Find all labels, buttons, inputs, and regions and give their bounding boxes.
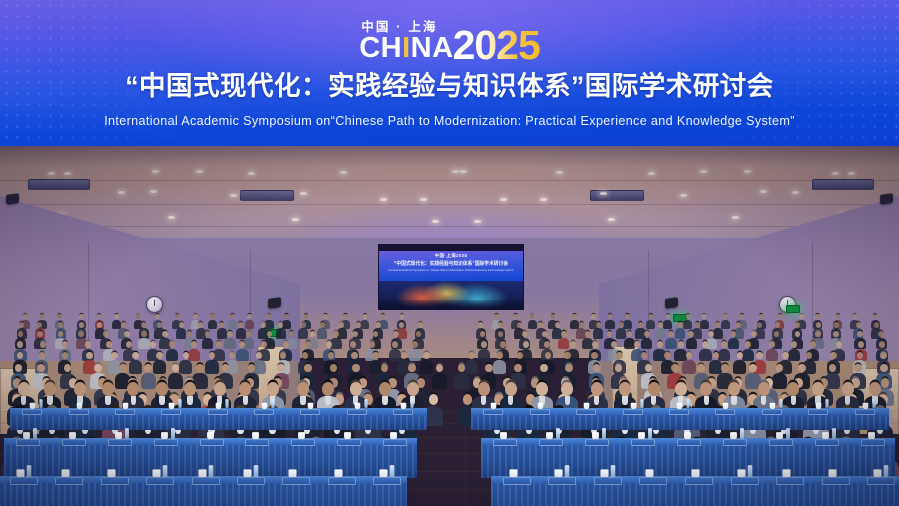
water-bottle [364,399,367,408]
audience-member-head [183,352,190,359]
audience-member-head [799,314,804,319]
audience-member-head [429,394,439,405]
audience-member-head [187,331,193,337]
audience-member-head [702,341,708,348]
audience-member-head [815,314,820,319]
front-row-attendee-shirt [845,396,850,404]
audience-member-head [542,331,548,337]
audience-member [432,364,447,390]
audience-member-head [381,364,389,372]
audience-member-head [593,364,601,372]
audience-member-head [121,322,126,328]
audience-member-head [372,352,379,359]
front-row-attendee-head [591,382,603,396]
front-row-attendee-head [74,382,86,396]
audience-member-head [326,341,332,348]
water-bottle [26,465,31,478]
audience-member-head [579,322,584,328]
audience-member-head [267,314,272,319]
audience-member [655,322,665,340]
front-row-attendee-shirt [47,396,52,404]
front-row-attendee-head [184,382,196,396]
speaker-right-2 [665,297,678,309]
audience-member-head [85,341,91,348]
audience-member-head [485,364,493,372]
event-banner: 中国 · 上海 CHINA 2025 “中国式现代化：实践经验与知识体系”国际学… [0,0,899,146]
name-placard [548,477,576,485]
front-row-attendee-shirt [159,396,164,404]
water-bottle [826,399,829,408]
audience-member-head [751,331,757,337]
name-placard [16,439,40,446]
audience-member-head [15,364,23,372]
name-placard [337,439,361,446]
audience-member-head [664,352,671,359]
audience-member-head [179,322,184,328]
audience-member-head [702,314,707,319]
audience-member-head [423,352,430,359]
exit-sign-right [786,305,800,313]
audience-member-head [343,314,348,319]
audience-member-body [166,349,178,362]
name-placard [483,409,503,415]
name-placard [594,477,622,485]
audience-member-head [136,314,141,319]
audience-member-head [39,352,46,359]
audience-member-head [305,341,311,348]
audience-member-head [782,352,789,359]
audience-member-head [97,322,102,328]
front-row-attendee-shirt [508,396,513,404]
audience-member-body [317,328,327,339]
audience-member-head [688,331,694,337]
audience-member-head [740,314,745,319]
audience-member-head [392,341,398,348]
audience-member-head [62,341,68,348]
front-row-attendee-head [102,382,114,396]
symposium-title-chinese: “中国式现代化：实践经验与知识体系”国际学术研讨会 [0,70,899,102]
name-placard [776,477,804,485]
audience-member-head [150,341,156,348]
audience-member-head [162,331,168,337]
audience-member-head [227,331,233,337]
name-placard [62,439,86,446]
audience-member-head [155,314,160,319]
audience-member-head [880,364,888,372]
audience-member-head [37,322,42,328]
audience-member-head [283,341,289,348]
audience-member-head [774,331,780,337]
audience-member-head [757,322,762,328]
name-placard [154,439,178,446]
name-placard [108,439,132,446]
water-bottle [179,399,182,408]
audience-member-head [141,322,146,328]
name-placard [291,439,315,446]
audience-member-head [756,352,763,359]
audience-member-head [289,331,295,337]
front-row-attendee-head [350,382,362,396]
audience-member-head [196,364,204,372]
logo-year: 2025 [453,26,540,64]
audience-member-head [874,322,879,328]
front-row-attendee-head [407,382,419,396]
water-bottle [779,399,782,408]
audience-member-head [169,341,175,348]
audience-member-head [412,341,418,348]
front-row-attendee-shirt [105,396,110,404]
front-row-attendee-shirt [791,396,796,404]
audience-member-head [697,364,705,372]
audience-member-head [496,352,503,359]
audience-member-head [18,331,24,337]
audience-member-head [373,331,379,337]
name-placard [208,409,228,415]
audience-member-head [23,314,28,319]
table-skirt [471,415,889,430]
front-row-attendee-head [478,382,490,396]
name-placard [715,409,735,415]
water-bottle [686,399,689,408]
audience-member-head [731,331,737,337]
audience-member-head [363,314,368,319]
audience-member-head [458,364,466,372]
air-vent [590,190,644,201]
audience-member-head [513,314,518,319]
audience-member [202,331,213,350]
audience-member-head [86,352,93,359]
audience-member-head [302,352,309,359]
audience-member-head [619,322,624,328]
audience-member-body [432,373,447,389]
audience-member-body [655,328,665,339]
audience-member-head [671,364,679,372]
audience-member-head [514,364,522,372]
audience-member-head [836,314,841,319]
audience-member [317,322,327,340]
audience-member-head [776,364,784,372]
conference-hall-photo: 中国·上海2025 “中国式现代化：实践经验与知识体系”国际学术研讨会 Inte… [0,146,899,506]
audience-member-head [627,331,633,337]
front-row-attendee-head [648,382,660,396]
audience-member-head [498,331,504,337]
symposium-banner-screenshot: 中国 · 上海 CHINA 2025 “中国式现代化：实践经验与知识体系”国际学… [0,0,899,506]
water-bottle [786,428,790,439]
audience-member-head [320,322,325,328]
audience-member-head [830,352,837,359]
name-placard [493,439,517,446]
audience-member [605,314,614,330]
audience-member-head [103,331,109,337]
event-logo: 中国 · 上海 CHINA 2025 [0,12,899,64]
audience-member-head [278,322,283,328]
audience-member-head [686,314,691,319]
name-placard [669,409,689,415]
front-row-attendee-head [561,382,573,396]
audience-member-head [284,314,289,319]
audience-member-head [193,314,198,319]
table-skirt [491,483,899,506]
audience-member-head [356,322,361,328]
audience-member-head [551,314,556,319]
front-row-attendee-shirt [761,396,766,404]
front-row-attendee-head [869,382,881,396]
audience-member [276,322,286,340]
audience-member-head [17,341,23,348]
water-bottle [747,465,752,478]
audience-member [646,314,655,330]
front-row-attendee-head [700,382,712,396]
audience-member-head [834,322,839,328]
audience-member-head [144,364,152,372]
audience-member-head [40,341,46,348]
water-bottle [171,428,175,439]
front-row-attendee-shirt [651,396,656,404]
audience-member-head [713,352,720,359]
audience-member [686,331,697,350]
audience-member-head [666,314,671,319]
audience-member-head [695,322,700,328]
water-bottle [410,399,413,408]
stage-screen-logo: 中国·上海2025 [379,253,523,258]
name-placard [192,477,220,485]
audience-member-head [749,364,757,372]
audience-member-head [585,331,591,337]
audience-member-head [172,364,180,372]
water-bottle [390,465,395,478]
audience-member-head [545,352,552,359]
name-placard [282,477,310,485]
audience-member-head [836,341,842,348]
name-placard [867,477,895,485]
audience-member-head [715,322,720,328]
audience-member-head [721,364,729,372]
front-row-attendee-shirt [243,396,248,404]
audience-member-head [141,331,147,337]
front-row-attendee-head [267,382,279,396]
audience-member-head [205,331,211,337]
audience-member-head [106,341,112,348]
audience-member-head [209,352,216,359]
audience-member-head [156,352,163,359]
front-row-attendee-head [675,382,687,396]
water-bottle [611,465,616,478]
water-bottle [872,399,875,408]
audience-member-head [607,331,613,337]
audience-member-head [277,364,285,372]
name-placard [69,409,89,415]
audience-member-body [605,320,614,329]
water-bottle [254,465,259,478]
audience-member-head [517,322,522,328]
name-placard [685,477,713,485]
audience-member-head [596,322,601,328]
audience-member-head [381,314,386,319]
audience-member-head [78,331,84,337]
name-placard [762,409,782,415]
audience-member-head [686,352,693,359]
audience-member-head [810,341,816,348]
audience-member-head [565,364,573,372]
water-bottle [271,399,274,408]
audience-member [166,341,178,362]
audience-member-head [608,314,613,319]
audience-member-head [393,331,399,337]
name-placard [373,477,401,485]
audience-member-head [418,322,423,328]
water-bottle [640,399,643,408]
audience-member-head [592,341,598,348]
table-skirt [10,415,427,430]
audience-member-head [481,341,487,348]
air-vent [812,179,874,190]
audience-member-head [791,341,797,348]
water-bottle [556,428,560,439]
audience-member-body [245,320,254,329]
audience-member-body [646,320,655,329]
audience-member-head [468,352,475,359]
audience-member-head [219,322,224,328]
audience-member-head [97,314,102,319]
water-bottle [884,465,889,478]
audience-member-head [494,314,499,319]
audience-member-head [708,331,714,337]
audience-member-head [778,314,783,319]
name-placard [861,439,885,446]
name-placard [723,439,747,446]
name-placard [101,477,129,485]
audience-member-head [634,341,640,348]
name-placard [631,439,655,446]
audience-member-head [339,322,344,328]
audience-member-head [238,322,243,328]
audience-member-head [376,322,381,328]
audience-member-head [310,331,316,337]
name-placard [639,477,667,485]
ceiling-seam [0,180,899,181]
audience-member [675,322,685,340]
audience-member-head [333,331,339,337]
front-row-attendee-head [536,382,548,396]
audience-member-head [795,331,801,337]
front-row-attendee-shirt [565,396,570,404]
audience-member-head [328,352,335,359]
name-placard [855,409,875,415]
front-row-attendee-head [842,382,854,396]
audience-member-head [352,364,360,372]
name-placard [161,409,181,415]
water-bottle [740,428,744,439]
audience-member-head [873,314,878,319]
audience-member-head [561,331,567,337]
audience-member-body [454,373,469,389]
audience-member-head [304,314,309,319]
audience-member-head [17,352,24,359]
audience-member-head [94,364,102,372]
front-row-attendee-shirt [300,396,305,404]
front-row-attendee-shirt [481,396,486,404]
name-placard [55,477,83,485]
audience-member-head [572,314,577,319]
audience-member-head [64,364,72,372]
audience-member-body [675,328,685,339]
audience-member-head [330,364,338,372]
audience-member-head [611,341,617,348]
audience-member [766,341,778,362]
ceiling-seam [0,226,899,227]
front-row-attendee-head [239,382,251,396]
audience-member-head [570,341,576,348]
audience-member-head [191,341,197,348]
name-placard [10,477,38,485]
front-row-attendee-head [127,382,139,396]
audience-member-head [591,314,596,319]
audience-member-head [530,314,535,319]
audience-member-head [857,352,864,359]
audience-member-body [478,349,490,362]
front-row-attendee-head [44,382,56,396]
stage-screen-title-chinese: “中国式现代化：实践经验与知识体系”国际学术研讨会 [383,261,520,267]
name-placard [146,477,174,485]
audience-member-head [478,322,483,328]
audience-member [478,341,490,362]
audience-member-head [645,364,653,372]
audience-member-head [239,341,245,348]
audience-member-head [79,314,84,319]
audience-member-head [463,394,473,405]
audience-member-head [198,322,203,328]
stage-led-screen: 中国·上海2025 “中国式现代化：实践经验与知识体系”国际学术研讨会 Inte… [378,244,524,310]
audience-member-head [798,364,806,372]
water-bottle [208,465,213,478]
audience-member-head [775,322,780,328]
front-row-attendee-head [214,382,226,396]
audience-member-head [79,322,84,328]
audience-member-head [678,341,684,348]
audience-member-head [58,322,63,328]
audience-member-head [399,322,404,328]
audience-member-head [879,341,885,348]
water-bottle [832,428,836,439]
symposium-title-english: International Academic Symposium on“Chin… [0,113,899,129]
audience-member-head [304,364,312,372]
water-bottle [565,465,570,478]
water-bottle [648,428,652,439]
audience-member-head [37,331,43,337]
front-row-attendee-head [297,382,309,396]
front-row-attendee-shirt [131,396,136,404]
audience-member-head [649,314,654,319]
stage-screen-title-band: 中国·上海2025 “中国式现代化：实践经验与知识体系”国际学术研讨会 Inte… [379,251,523,281]
audience-member-head [256,352,263,359]
audience-member-head [857,331,863,337]
audience-member [245,314,254,330]
audience-member-body [593,328,603,339]
audience-member-head [816,322,821,328]
audience-member-body [202,338,213,350]
audience-member-head [736,322,741,328]
front-row-attendee-shirt [622,396,627,404]
name-placard [115,409,135,415]
audience-member-head [517,352,524,359]
audience-member-head [795,322,800,328]
audience-member-head [126,341,132,348]
audience-member-head [737,352,744,359]
ceiling-seam [0,204,899,205]
front-row-attendee-head [322,382,334,396]
speaker-left-2 [268,297,281,309]
water-bottle [602,428,606,439]
